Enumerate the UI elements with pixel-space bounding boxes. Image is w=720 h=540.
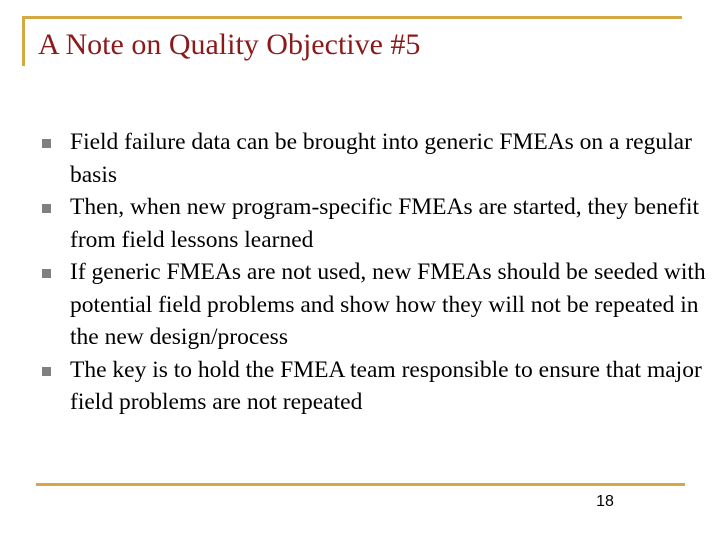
slide-body-area: Field failure data can be brought into g… xyxy=(0,126,720,419)
title-left-rule xyxy=(22,16,25,66)
list-item: If generic FMEAs are not used, new FMEAs… xyxy=(0,256,720,354)
square-bullet-icon xyxy=(42,367,51,376)
page-number: 18 xyxy=(560,492,650,512)
footer-rule xyxy=(36,483,685,486)
slide-canvas: A Note on Quality Objective #5 Field fai… xyxy=(0,0,720,540)
list-item: Field failure data can be brought into g… xyxy=(0,126,720,191)
list-item-label: The key is to hold the FMEA team respons… xyxy=(70,354,710,419)
title-top-rule xyxy=(22,16,682,19)
square-bullet-icon xyxy=(42,139,51,148)
page-title: A Note on Quality Objective #5 xyxy=(38,26,678,64)
list-item: The key is to hold the FMEA team respons… xyxy=(0,354,720,419)
square-bullet-icon xyxy=(42,269,51,278)
bullet-list: Field failure data can be brought into g… xyxy=(0,126,720,419)
list-item-label: If generic FMEAs are not used, new FMEAs… xyxy=(70,256,710,354)
list-item-label: Field failure data can be brought into g… xyxy=(70,126,710,191)
list-item: Then, when new program-specific FMEAs ar… xyxy=(0,191,720,256)
slide-footer-area: 18 xyxy=(0,470,720,540)
list-item-label: Then, when new program-specific FMEAs ar… xyxy=(70,191,710,256)
slide-title-area: A Note on Quality Objective #5 xyxy=(0,0,720,100)
square-bullet-icon xyxy=(42,204,51,213)
